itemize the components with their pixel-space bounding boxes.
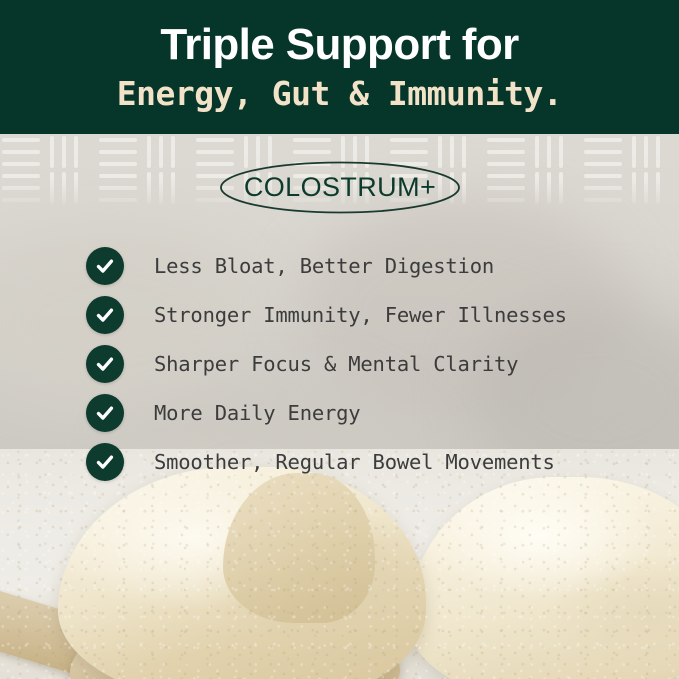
list-item-label: Smoother, Regular Bowel Movements [154,449,555,475]
list-item-label: Less Bloat, Better Digestion [154,253,494,279]
check-icon [86,443,124,481]
list-item-label: Sharper Focus & Mental Clarity [154,351,518,377]
list-item: Smoother, Regular Bowel Movements [86,437,646,486]
colostrum-badge: COLOSTRUM+ [219,161,461,214]
promo-card: Triple Support for Energy, Gut & Immunit… [0,0,679,679]
headline-secondary: Energy, Gut & Immunity. [117,74,562,114]
list-item: Less Bloat, Better Digestion [86,241,646,290]
benefits-list: Less Bloat, Better Digestion Stronger Im… [86,241,646,486]
check-icon [86,247,124,285]
badge-label: COLOSTRUM+ [219,161,461,214]
headline-primary: Triple Support for [160,20,518,70]
list-item-label: Stronger Immunity, Fewer Illnesses [154,302,567,328]
check-icon [86,345,124,383]
list-item: More Daily Energy [86,388,646,437]
check-icon [86,296,124,334]
powder-peak [223,473,375,623]
list-item: Stronger Immunity, Fewer Illnesses [86,290,646,339]
list-item: Sharper Focus & Mental Clarity [86,339,646,388]
check-icon [86,394,124,432]
header-banner: Triple Support for Energy, Gut & Immunit… [0,0,679,134]
list-item-label: More Daily Energy [154,400,360,426]
